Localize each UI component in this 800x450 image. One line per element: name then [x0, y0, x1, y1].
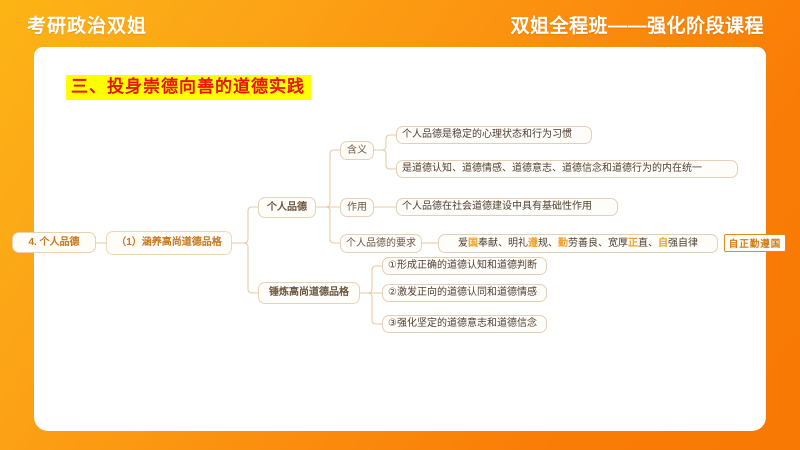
leaf-meaning-1-text: 个人品德是稳定的心理状态和行为习惯	[402, 129, 572, 141]
node-requirements[interactable]: 个人品德的要求	[340, 234, 422, 253]
node-function[interactable]: 作用	[340, 198, 374, 217]
mindmap-root-node[interactable]: 4. 个人品德	[12, 232, 96, 253]
mnemonic-callout[interactable]: 自正勤遵国	[724, 234, 786, 252]
leaf-function-1[interactable]: 个人品德在社会道德建设中具有基础性作用	[396, 198, 618, 216]
mindmap-level1-label: （1）涵养高尚道德品格	[116, 237, 222, 249]
mindmap-level1-node[interactable]: （1）涵养高尚道德品格	[106, 231, 232, 255]
leaf-meaning-2-text: 是道德认知、道德情感、道德意志、道德信念和道德行为的内在统一	[402, 163, 702, 175]
content-panel: 三、投身崇德向善的道德实践	[34, 47, 766, 431]
leaf-requirements[interactable]: 爱国奉献、明礼遵规、勤劳善良、宽厚正直、自强自律	[438, 234, 718, 253]
slide-root: 考研政治双姐 双姐全程班——强化阶段课程 三、投身崇德向善的道德实践	[0, 0, 800, 450]
leaf-meaning-2[interactable]: 是道德认知、道德情感、道德意志、道德信念和道德行为的内在统一	[396, 160, 738, 178]
branch-forge-virtue-label: 锤炼高尚道德品格	[269, 287, 349, 299]
leaf-forge-2-text: ②激发正向的道德认同和道德情感	[388, 287, 537, 299]
slide-header: 考研政治双姐 双姐全程班——强化阶段课程	[0, 0, 800, 47]
mindmap-branch-forge-virtue[interactable]: 锤炼高尚道德品格	[258, 282, 360, 304]
mindmap: 4. 个人品德 （1）涵养高尚道德品格 个人品德 含义 作用 个人品德的要求	[34, 47, 766, 431]
leaf-forge-1[interactable]: ①形成正确的道德认知和道德判断	[382, 257, 547, 275]
header-course-title: 双姐全程班——强化阶段课程	[510, 11, 764, 38]
node-function-label: 作用	[347, 202, 367, 214]
node-meaning[interactable]: 含义	[340, 141, 374, 160]
mnemonic-text: 自正勤遵国	[729, 236, 782, 250]
node-meaning-label: 含义	[347, 145, 367, 157]
leaf-forge-1-text: ①形成正确的道德认知和道德判断	[388, 260, 537, 272]
leaf-forge-3-text: ③强化坚定的道德意志和道德信念	[388, 318, 537, 330]
leaf-requirements-text: 爱国奉献、明礼遵规、勤劳善良、宽厚正直、自强自律	[458, 238, 698, 250]
leaf-forge-3[interactable]: ③强化坚定的道德意志和道德信念	[382, 315, 547, 333]
leaf-forge-2[interactable]: ②激发正向的道德认同和道德情感	[382, 284, 547, 302]
header-brand-title: 考研政治双姐	[27, 11, 147, 38]
mindmap-root-label: 4. 个人品德	[28, 237, 79, 249]
branch-personal-virtue-label: 个人品德	[267, 202, 307, 214]
leaf-meaning-1[interactable]: 个人品德是稳定的心理状态和行为习惯	[396, 126, 592, 144]
mindmap-branch-personal-virtue[interactable]: 个人品德	[258, 197, 316, 218]
leaf-function-1-text: 个人品德在社会道德建设中具有基础性作用	[402, 201, 592, 213]
node-requirements-label: 个人品德的要求	[346, 238, 416, 250]
